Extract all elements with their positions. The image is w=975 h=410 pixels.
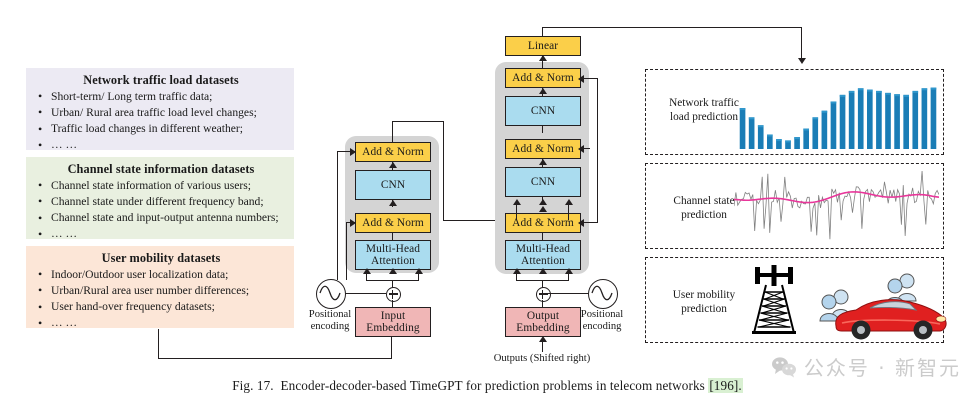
encoder-multi-head-attention[interactable]: Multi-Head Attention (355, 240, 431, 270)
decoder-link-b (542, 159, 543, 167)
list-item: … … (34, 226, 288, 242)
pe-label-line1: Positional (581, 309, 623, 320)
decoder-mha-feed-bus (516, 280, 569, 281)
arrowhead-decoder-linear-in (539, 55, 547, 61)
arrowhead-decoder-mha-in (539, 268, 547, 274)
dataset-item-list: Indoor/Outdoor user localization data; U… (34, 267, 288, 332)
decoder-link-a (542, 88, 543, 96)
decoder-mha-label-line1: Multi-Head (516, 243, 570, 255)
arrowhead-decoder-q (513, 268, 521, 274)
list-item: User hand-over frequency datasets; (34, 299, 288, 315)
arrowhead-encoder-v (415, 268, 423, 274)
decoder-inputs-line (542, 341, 543, 352)
arrowhead-decoder-cnn1-in (539, 206, 547, 212)
encoder-output-up (392, 121, 393, 143)
arrowhead-decoder-residual-inner (578, 219, 584, 227)
linear-output-down (801, 27, 802, 59)
arrowhead-encoder-residual-outer (350, 148, 356, 156)
arrowhead-encoder-residual-inner (350, 219, 356, 227)
dataset-box-network-traffic-load: Network traffic load datasets Short-term… (26, 68, 294, 150)
panel-label-line2: prediction (681, 209, 727, 221)
list-item: Urban/ Rural area traffic load level cha… (34, 105, 288, 121)
prediction-panel-network-traffic-load: Network traffic load prediction (645, 69, 944, 155)
list-item: … … (34, 137, 288, 153)
decoder-positional-encoding-icon (588, 279, 618, 309)
panel-label-user-mobility: User mobility prediction (656, 288, 752, 316)
pe-label-line2: encoding (311, 321, 350, 332)
decoder-masked-multi-head-attention[interactable]: Multi-Head Attention (505, 240, 581, 270)
list-item: Channel state and input-output antenna n… (34, 210, 288, 226)
panel-label-line2: prediction (681, 303, 727, 315)
pe-label-line2: encoding (583, 321, 622, 332)
decoder-inputs-label: Outputs (Shifted right) (481, 353, 603, 365)
encoder-add-norm-2[interactable]: Add & Norm (355, 142, 431, 162)
list-item: Channel state information of various use… (34, 178, 288, 194)
arrowhead-cross-attn-v (565, 199, 573, 205)
encoder-input-embedding[interactable]: Input Embedding (355, 307, 431, 337)
decoder-cnn-2[interactable]: CNN (505, 96, 581, 126)
input-embedding-label-line1: Input (381, 310, 406, 322)
connector-datasets-right (158, 358, 392, 359)
arrowhead-cross-attn-q (539, 199, 547, 205)
arrowhead-output-embedding-in (539, 336, 547, 342)
decoder-add-norm-2[interactable]: Add & Norm (505, 139, 581, 159)
decoder-sum-to-embedding (542, 300, 543, 308)
encoder-mha-label-line1: Multi-Head (366, 243, 420, 255)
dataset-title: Channel state information datasets (34, 162, 288, 176)
encoder-residual-outer (337, 152, 338, 280)
decoder-pe-wire (548, 293, 590, 294)
decoder-mha-label-line2: Attention (521, 255, 565, 267)
encoder-addnorm2-in (392, 162, 393, 170)
encoder-add-norm-1[interactable]: Add & Norm (355, 213, 431, 233)
dataset-item-list: Channel state information of various use… (34, 178, 288, 243)
encoder-output-down (443, 121, 444, 221)
encoder-positional-encoding-icon (316, 279, 346, 309)
channel-state-line-chart (734, 170, 939, 244)
dataset-title: User mobility datasets (34, 251, 288, 265)
cross-attn-feed-k (516, 204, 517, 220)
encoder-positional-encoding-label: Positional encoding (298, 309, 362, 334)
linear-output-right (542, 27, 802, 28)
arrowhead-decoder-residual-outer (578, 75, 584, 83)
decoder-residual-outer (597, 78, 598, 223)
decoder-linear[interactable]: Linear (505, 36, 581, 56)
encoder-mha-feed-bus (366, 280, 419, 281)
linear-output-up (542, 27, 543, 37)
connector-datasets-down (158, 329, 159, 359)
list-item: Urban/Rural area user number differences… (34, 283, 288, 299)
decoder-residual-outer-in (583, 78, 598, 79)
panel-label-line1: User mobility (673, 289, 735, 301)
dataset-box-channel-state-information: Channel state information datasets Chann… (26, 157, 294, 239)
figure-canvas: Network traffic load datasets Short-term… (0, 0, 975, 410)
arrowhead-to-predictions (798, 58, 806, 64)
panel-label-line1: Channel state (673, 195, 734, 207)
encoder-mha-to-addnorm-line (392, 233, 393, 240)
prediction-panel-user-mobility: User mobility prediction (645, 257, 944, 343)
arrowhead-encoder-mha-in (389, 268, 397, 274)
output-embedding-label-line2: Embedding (516, 322, 569, 334)
list-item: … … (34, 315, 288, 331)
encoder-residual-inner (346, 222, 347, 280)
list-item: Channel state under different frequency … (34, 194, 288, 210)
list-item: Indoor/Outdoor user localization data; (34, 267, 288, 283)
watermark-text: 公众号 · 新智元 (804, 352, 961, 381)
output-embedding-label-line1: Output (527, 310, 559, 322)
arrowhead-encoder-addnorm1-out (389, 200, 397, 206)
decoder-cnn-1[interactable]: CNN (505, 167, 581, 197)
input-embedding-label-line2: Embedding (366, 322, 419, 334)
panel-label-line2: load prediction (670, 111, 738, 123)
arrowhead-cross-attn-k (513, 199, 521, 205)
decoder-residual-inner-in (583, 222, 597, 223)
arrowhead-decoder-v (565, 268, 573, 274)
watermark: 公众号 · 新智元 (771, 352, 961, 381)
encoder-output-right-top (392, 121, 444, 122)
decoder-mha-to-addnorm1 (542, 233, 543, 240)
list-item: Short-term/ Long term traffic data; (34, 89, 288, 105)
encoder-pe-wire (344, 293, 386, 294)
red-car-icon (830, 290, 950, 342)
decoder-residual-mid-in (583, 148, 590, 149)
encoder-mha-label-line2: Attention (371, 255, 415, 267)
list-item: Traffic load changes in different weathe… (34, 121, 288, 137)
connector-datasets-up (391, 334, 392, 359)
decoder-positional-encoding-label: Positional encoding (570, 309, 634, 334)
caption-text: Encoder-decoder-based TimeGPT for predic… (281, 378, 705, 393)
dataset-box-user-mobility: User mobility datasets Indoor/Outdoor us… (26, 246, 294, 328)
decoder-add-norm-3[interactable]: Add & Norm (505, 68, 581, 88)
encoder-cnn[interactable]: CNN (355, 170, 431, 200)
cell-tower-icon (744, 265, 804, 337)
panel-label-line1: Network traffic (669, 97, 739, 109)
arrowhead-decoder-residual-mid (578, 145, 584, 153)
encoder-sum-to-embedding (392, 300, 393, 308)
caption-citation: [196]. (708, 378, 742, 393)
pe-label-line1: Positional (309, 309, 351, 320)
arrowhead-encoder-q (363, 268, 371, 274)
prediction-panel-channel-state: Channel state prediction (645, 163, 944, 249)
decoder-cnn2-to-addnorm3 (542, 126, 543, 133)
network-traffic-bar-chart (738, 79, 938, 149)
dataset-item-list: Short-term/ Long term traffic data; Urba… (34, 89, 288, 154)
caption-prefix: Fig. 17. (232, 378, 273, 393)
cross-attn-feed-v (568, 204, 569, 220)
dataset-title: Network traffic load datasets (34, 73, 288, 87)
wechat-icon (771, 356, 797, 378)
